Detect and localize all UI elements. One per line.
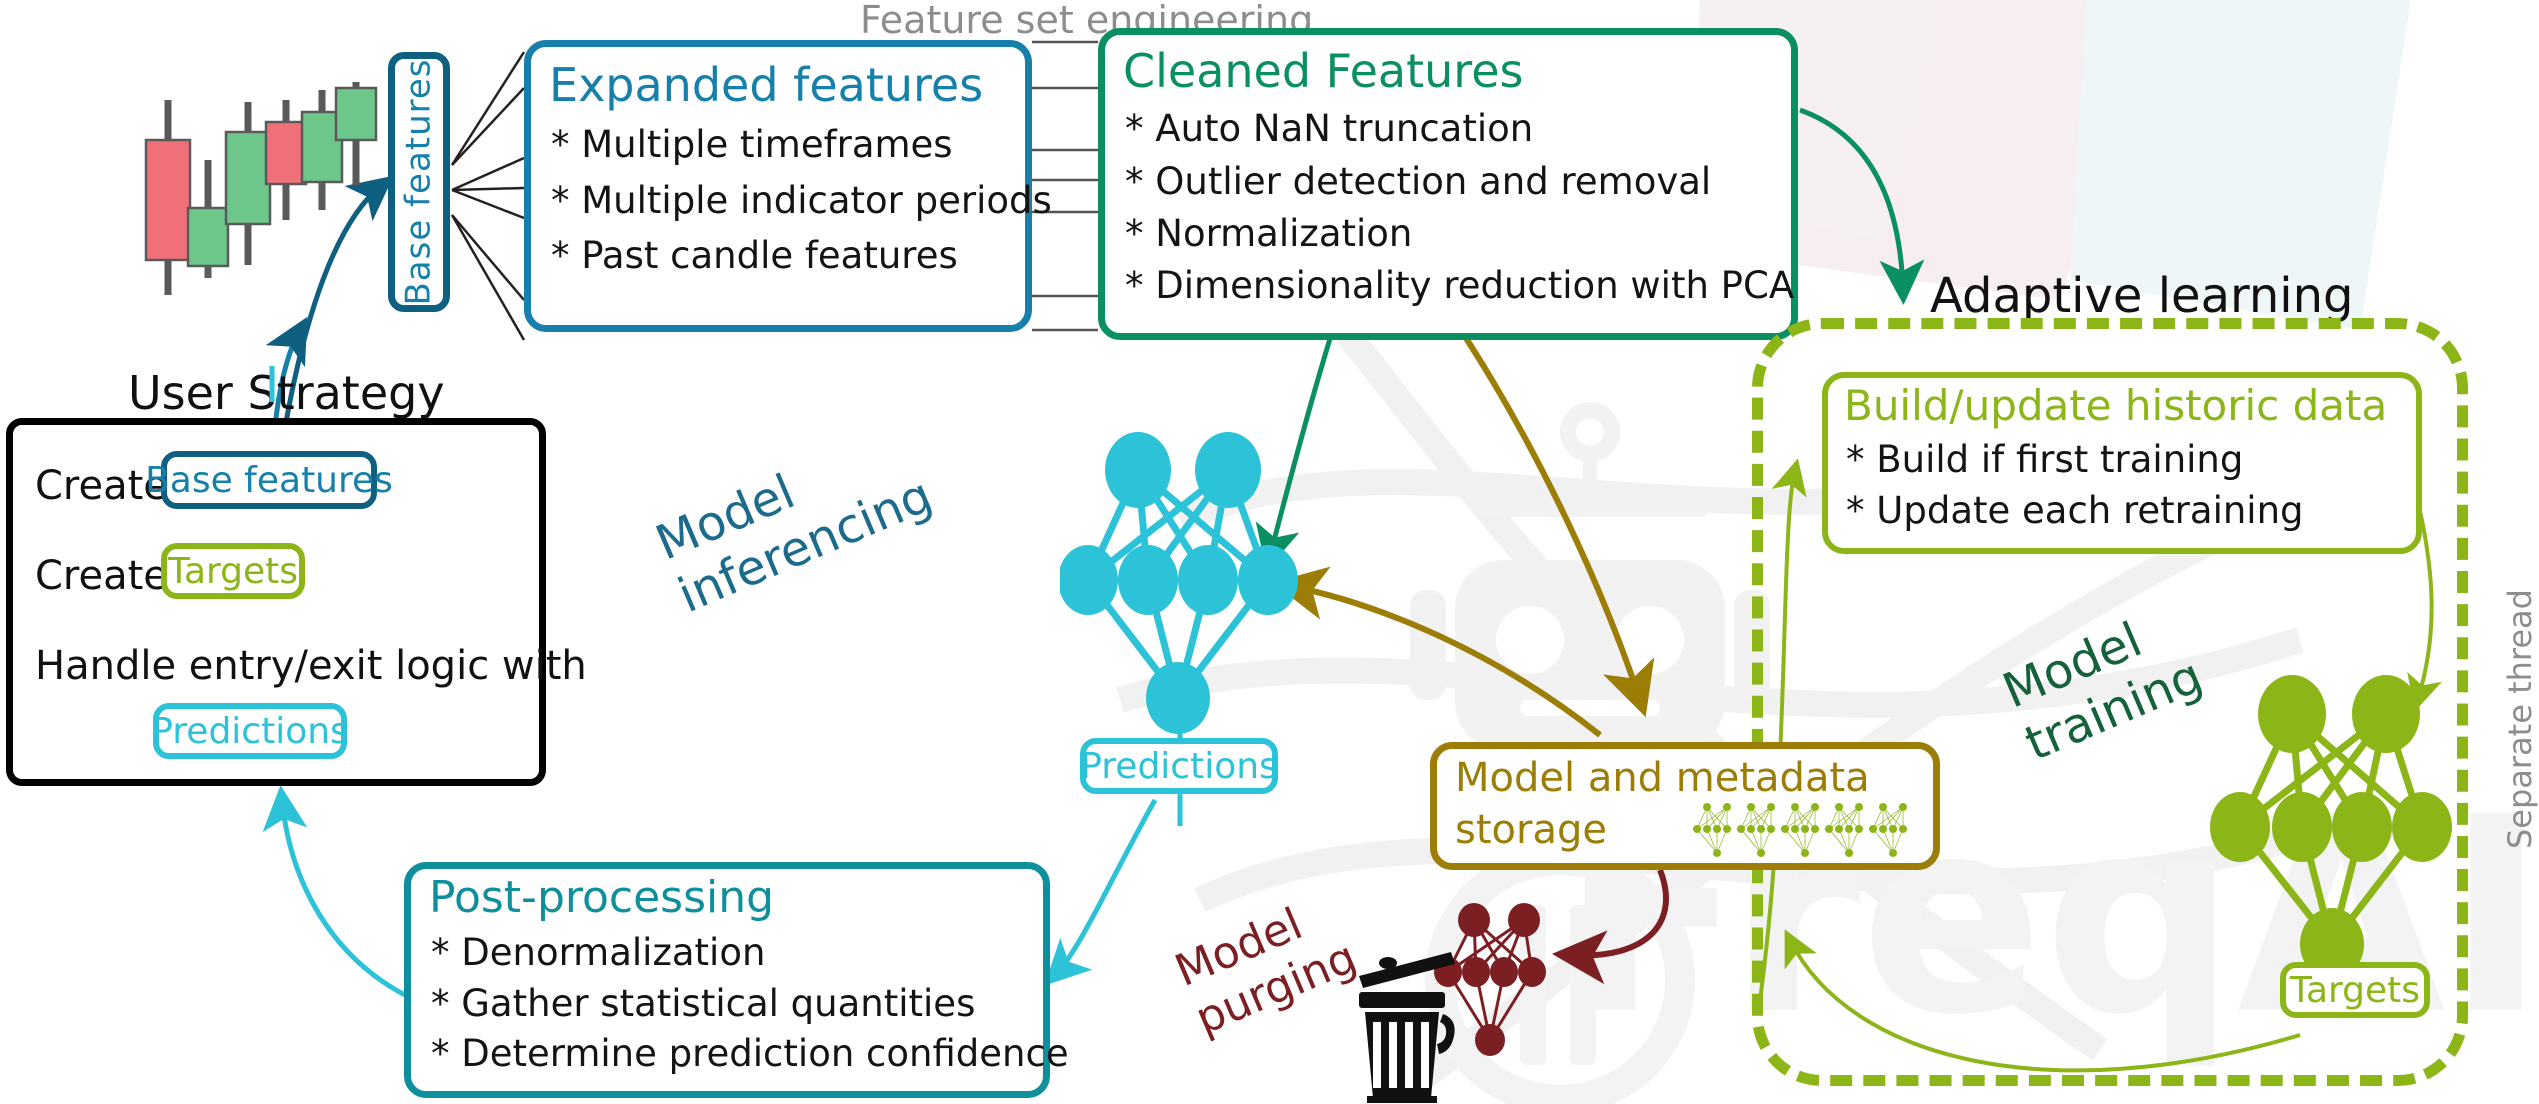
strategy-base-features-pill[interactable]: Base features — [161, 451, 377, 509]
post-processing-item: * Determine prediction confidence — [431, 1030, 1043, 1077]
separate-thread-header: Separate thread — [2501, 589, 2539, 849]
strategy-base-features-label: Base features — [145, 460, 393, 501]
build-update-historic-data-item: * Update each retraining — [1846, 487, 2416, 534]
user-strategy-handle-label: Handle entry/exit logic with — [35, 643, 587, 689]
trash-can-icon — [1355, 930, 1465, 1104]
targets-pill-label: Targets — [2290, 970, 2420, 1011]
cleaned-features-item: * Dimensionality reduction with PCA — [1125, 262, 1791, 309]
expanded-features-title: Expanded features — [549, 61, 1025, 109]
user-strategy-header: User Strategy — [128, 366, 445, 420]
base-features-pill[interactable]: Base features — [388, 52, 450, 312]
expanded-features-item: * Multiple timeframes — [551, 121, 1025, 168]
strategy-targets-pill[interactable]: Targets — [161, 543, 305, 599]
strategy-targets-label: Targets — [168, 551, 298, 592]
build-update-historic-data-item: * Build if first training — [1846, 436, 2416, 483]
neural-network-stack-icon — [1693, 799, 1933, 861]
neural-network-green-icon — [2210, 672, 2460, 1002]
cleaned-features-box[interactable]: Cleaned Features * Auto NaN truncation *… — [1098, 28, 1798, 340]
post-processing-item: * Denormalization — [431, 929, 1043, 976]
model-purging-label: Model purging — [1168, 884, 1364, 1046]
base-features-pill-label: Base features — [399, 58, 439, 305]
model-storage-title-line1: Model and metadata — [1455, 755, 1870, 801]
model-storage-title-line2: storage — [1455, 807, 1607, 853]
neural-network-cyan-icon — [1060, 430, 1300, 750]
user-strategy-box[interactable]: Create Base features Create Targets Hand… — [6, 418, 546, 786]
adaptive-learning-header: Adaptive learning — [1930, 268, 2354, 324]
post-processing-title: Post-processing — [429, 875, 1043, 921]
expanded-features-item: * Past candle features — [551, 232, 1025, 279]
strategy-predictions-pill[interactable]: Predictions — [153, 703, 347, 759]
cleaned-features-title: Cleaned Features — [1123, 47, 1791, 95]
build-update-historic-data-title: Build/update historic data — [1844, 384, 2416, 428]
build-update-historic-data-box[interactable]: Build/update historic data * Build if fi… — [1822, 372, 2422, 554]
expanded-features-box[interactable]: Expanded features * Multiple timeframes … — [524, 40, 1032, 332]
cleaned-features-item: * Normalization — [1125, 210, 1791, 257]
strategy-predictions-label: Predictions — [151, 711, 349, 752]
post-processing-item: * Gather statistical quantities — [431, 980, 1043, 1027]
targets-pill[interactable]: Targets — [2280, 962, 2430, 1018]
user-strategy-create-label-2: Create — [35, 553, 168, 599]
candlestick-chart-icon — [140, 80, 380, 310]
diagram-canvas: FreqAI — [0, 0, 2539, 1104]
expanded-features-item: * Multiple indicator periods — [551, 177, 1025, 224]
predictions-pill-label: Predictions — [1080, 746, 1278, 787]
cleaned-features-item: * Outlier detection and removal — [1125, 158, 1791, 205]
predictions-pill[interactable]: Predictions — [1080, 738, 1278, 794]
model-storage-box[interactable]: Model and metadata storage — [1430, 742, 1940, 870]
post-processing-box[interactable]: Post-processing * Denormalization * Gath… — [404, 862, 1050, 1098]
model-inferencing-label: Model inferencing — [648, 415, 940, 625]
cleaned-features-item: * Auto NaN truncation — [1125, 105, 1791, 152]
